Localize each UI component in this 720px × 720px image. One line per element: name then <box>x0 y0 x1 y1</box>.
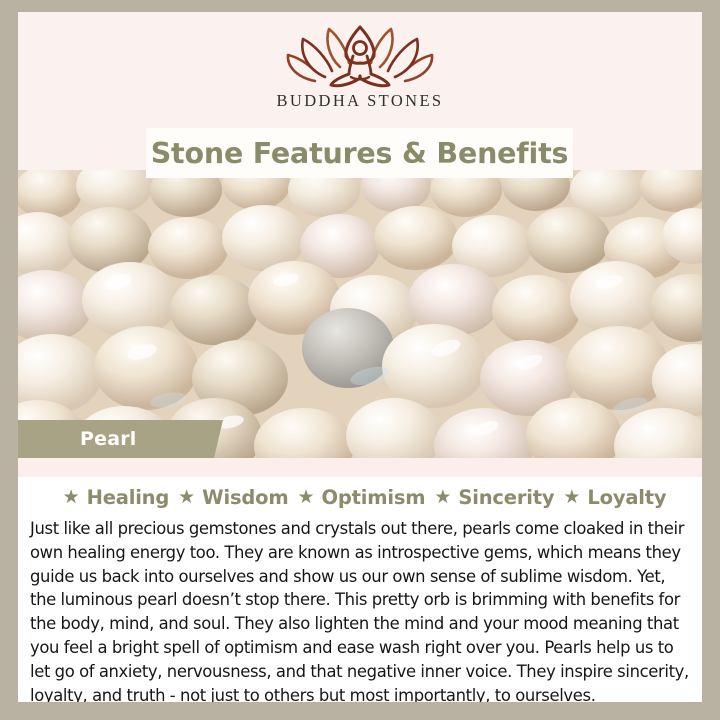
outer-frame: BUDDHA STONES Stone Features & Benefits <box>0 0 720 720</box>
brand-wordmark: BUDDHA STONES <box>276 91 443 111</box>
benefit-item-wisdom: ★ Wisdom <box>169 486 288 509</box>
benefits-row: ★ Healing ★ Wisdom ★ Optimism ★ Sincerit… <box>18 477 702 514</box>
benefit-item-optimism: ★ Optimism <box>288 486 425 509</box>
star-icon: ★ <box>297 488 314 507</box>
infographic-page: BUDDHA STONES Stone Features & Benefits <box>18 12 702 702</box>
benefit-item-sincerity: ★ Sincerity <box>425 486 554 509</box>
stone-description: Just like all precious gemstones and cry… <box>30 517 691 702</box>
benefit-item-loyalty: ★ Loyalty <box>554 486 666 509</box>
star-icon: ★ <box>178 488 195 507</box>
title-banner: Stone Features & Benefits <box>146 128 573 178</box>
star-icon: ★ <box>434 488 451 507</box>
benefit-item-healing: ★ Healing <box>54 486 170 509</box>
content-panel: ★ Healing ★ Wisdom ★ Optimism ★ Sincerit… <box>18 477 702 702</box>
pearl-photo-illustration <box>18 170 702 458</box>
divider-strip <box>18 458 702 477</box>
pearl-photo <box>18 170 702 458</box>
benefit-label: Wisdom <box>202 486 288 509</box>
stone-name: Pearl <box>18 428 137 450</box>
page-title: Stone Features & Benefits <box>151 137 569 170</box>
stone-name-banner: Pearl <box>18 420 223 458</box>
star-icon: ★ <box>563 488 580 507</box>
benefit-label: Optimism <box>322 486 426 509</box>
star-icon: ★ <box>63 488 80 507</box>
benefit-label: Loyalty <box>587 486 666 509</box>
lotus-meditation-figure-icon <box>285 21 435 89</box>
benefit-label: Healing <box>87 486 170 509</box>
brand-header: BUDDHA STONES <box>18 12 702 130</box>
benefit-label: Sincerity <box>458 486 554 509</box>
